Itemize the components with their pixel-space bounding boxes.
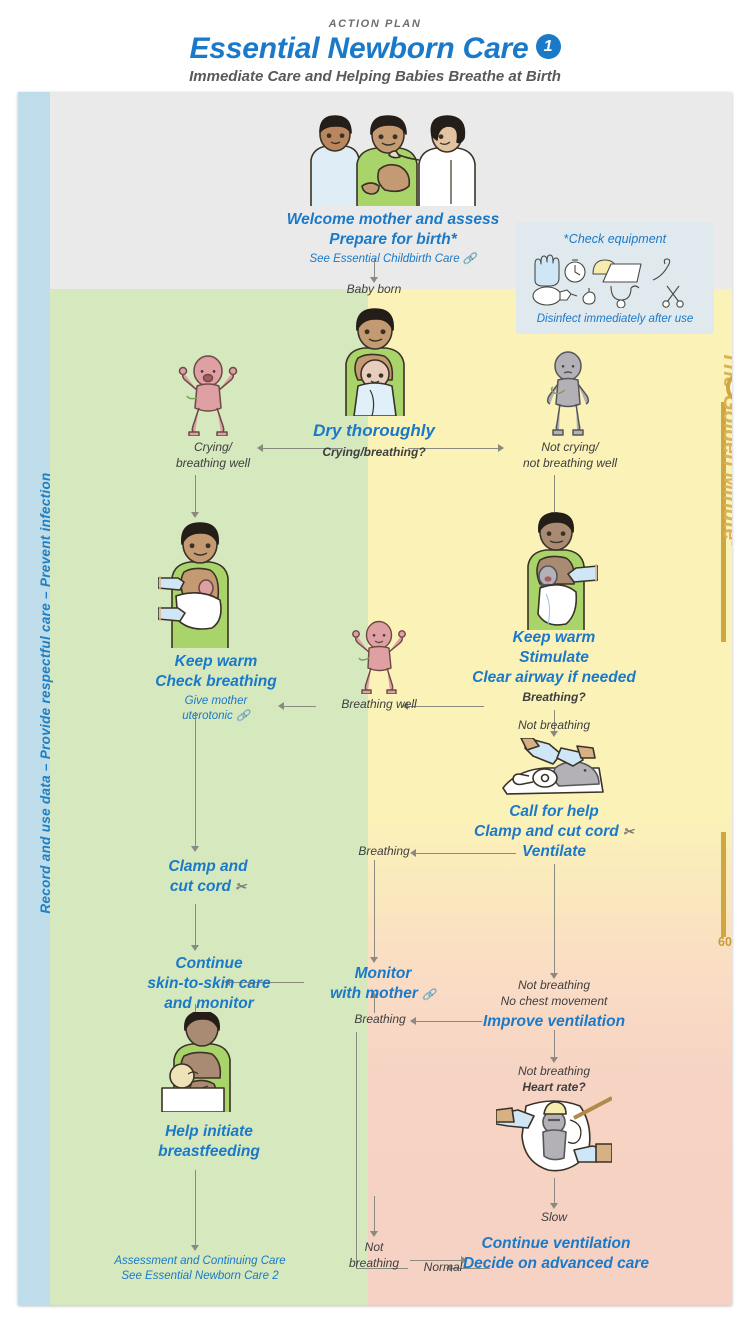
golden-minute-stem-lower (721, 832, 726, 937)
connector-crying-down (195, 475, 196, 513)
plan-number-badge: 1 (536, 34, 561, 59)
baby-born-text: Baby born (314, 282, 434, 298)
connector-normal-elbow-v (356, 1032, 357, 1268)
connector-improve-down (554, 1030, 555, 1058)
arrowhead-down (191, 846, 199, 852)
uterotonic-sub-line1: Give mother (116, 694, 316, 709)
improve-pre-line2: No chest movement (448, 994, 660, 1010)
arrowhead-down (550, 1057, 558, 1063)
improve-ventilation-title: Improve ventilation (448, 1012, 660, 1032)
arrowhead-down (191, 512, 199, 518)
disinfect-note: Disinfect immediately after use (516, 313, 714, 325)
not-breathing-label-1: Not breathing (494, 718, 614, 734)
golden-minute-label: The Golden Minute® (718, 309, 732, 589)
dry-thoroughly-node: Dry thoroughly Crying/breathing? (274, 420, 474, 460)
connector-heartrate-down (554, 1178, 555, 1204)
breathing-well-label: Breathing well (314, 697, 444, 713)
footer-ref-line2: See Essential Newborn Care 2 (80, 1269, 320, 1284)
equipment-icon-row (516, 250, 714, 313)
check-equipment-title: *Check equipment (516, 232, 714, 246)
not-breathing-bottom-line2: breathing (324, 1256, 424, 1272)
clamp-line2-text: cut cord (170, 878, 231, 895)
slow-label: Slow (514, 1210, 594, 1226)
flowchart-canvas: Record and use data – Provide respectful… (18, 92, 732, 1305)
breathing-question: Breathing? (444, 690, 664, 706)
eyebrow-label: ACTION PLAN (0, 18, 750, 30)
link-icon[interactable]: 🔗 (236, 710, 250, 722)
continue-ventilation-node: Continue ventilation Decide on advanced … (436, 1234, 676, 1274)
page-title-text: Essential Newborn Care (189, 32, 528, 65)
scissors-icon: ✂ (235, 879, 246, 894)
monitor-line2-text: with mother (330, 985, 418, 1002)
check-equipment-text: Check equipment (569, 232, 666, 246)
link-icon[interactable]: 🔗 (422, 989, 436, 1001)
call-help-line1: Call for help (444, 802, 664, 822)
keep-warm-check-line2: Check breathing (116, 672, 316, 692)
help-initiate-breastfeeding-node: Help initiate breastfeeding (114, 1122, 304, 1162)
check-equipment-box: *Check equipment (516, 222, 714, 334)
scissors-icon: ✂ (623, 824, 634, 839)
keep-warm-check-node: Keep warm Check breathing Give mother ut… (116, 652, 316, 724)
crying-pink-newborn-illustration (173, 354, 243, 436)
connector-bottom-notbreathing-down (374, 1196, 375, 1232)
continue-skin-to-skin-node: Continue skin-to-skin care and monitor (114, 954, 304, 1013)
breathing-well-text: Breathing well (314, 697, 444, 713)
heart-rate-pre: Not breathing (464, 1064, 644, 1080)
stimulating-newborn-on-mother-illustration (516, 510, 598, 630)
connector-notcrying-down (554, 475, 555, 513)
clamp-line2: cut cord ✂ (128, 877, 288, 897)
call-help-line2: Clamp and cut cord ✂ (444, 822, 664, 842)
skin-to-skin-gloved-hands-illustration (158, 520, 240, 648)
bag-mask-ventilation-illustration (499, 738, 609, 800)
registered-mark: ® (729, 540, 732, 547)
not-crying-label: Not crying/ not breathing well (500, 440, 640, 471)
crying-well-label: Crying/ breathing well (158, 440, 268, 471)
improve-ventilation-node: Not breathing No chest movement Improve … (448, 978, 660, 1032)
footer-ref-line1: Assessment and Continuing Care (80, 1254, 320, 1269)
not-breathing-bottom-label: Not breathing (324, 1240, 424, 1271)
not-crying-label-line1: Not crying/ (500, 440, 640, 456)
improve-pre-line1: Not breathing (448, 978, 660, 994)
connector-breastfeed-to-footer (195, 1170, 196, 1246)
breathing-low-label: Breathing (340, 1012, 420, 1028)
baby-born-label: Baby born (314, 282, 434, 298)
link-icon[interactable]: 🔗 (463, 253, 477, 265)
connector-breathing-to-monitor (374, 860, 375, 958)
continue-line3: and monitor (114, 994, 304, 1014)
arrowhead-down (370, 957, 378, 963)
crying-label-line1: Crying/ (158, 440, 268, 456)
keep-warm-stimulate-node: Keep warm Stimulate Clear airway if need… (444, 628, 664, 706)
keep-warm-check-line1: Keep warm (116, 652, 316, 672)
mother-partner-provider-illustration (301, 114, 485, 206)
breastfeed-line1: Help initiate (114, 1122, 304, 1142)
connector-clamp-to-continue (195, 904, 196, 946)
breathing-low-text: Breathing (340, 1012, 420, 1028)
stimulate-line2: Stimulate (444, 648, 664, 668)
sixty-second-marker: 60 sec (718, 935, 732, 949)
monitor-line2: with mother 🔗 (308, 984, 458, 1004)
stimulate-line3: Clear airway if needed (444, 668, 664, 688)
slow-text: Slow (514, 1210, 594, 1226)
connector-keepwarm-to-clamp (195, 712, 196, 847)
continue-line1: Continue (114, 954, 304, 974)
breastfeeding-illustration (158, 1012, 238, 1112)
poster-header: ACTION PLAN Essential Newborn Care1 Imme… (0, 0, 750, 92)
dry-thoroughly-question: Crying/breathing? (274, 445, 474, 461)
page-title: Essential Newborn Care1 (0, 32, 750, 66)
footer-reference-node: Assessment and Continuing Care See Essen… (80, 1254, 320, 1284)
pink-newborn-arms-up-illustration (348, 620, 410, 694)
call-help-line3: Ventilate (444, 842, 664, 862)
arrowhead-down (191, 945, 199, 951)
uterotonic-text: uterotonic (182, 710, 233, 722)
mother-holding-dried-newborn-illustration (340, 304, 410, 416)
advanced-care-assessment-illustration (496, 1092, 612, 1178)
limp-grey-newborn-illustration (533, 350, 603, 438)
continue-vent-line1: Continue ventilation (436, 1234, 676, 1254)
clamp-line1: Clamp and (128, 857, 288, 877)
page-subtitle: Immediate Care and Helping Babies Breath… (0, 68, 750, 85)
arrowhead-down (191, 1245, 199, 1251)
not-crying-label-line2: not breathing well (500, 456, 640, 472)
arrowhead-down (370, 1231, 378, 1237)
heart-rate-node: Not breathing Heart rate? (464, 1064, 644, 1095)
monitor-line1: Monitor (308, 964, 458, 984)
welcome-sub-text: See Essential Childbirth Care (309, 253, 459, 265)
call-for-help-node: Call for help Clamp and cut cord ✂ Venti… (444, 802, 664, 861)
stimulate-line1: Keep warm (444, 628, 664, 648)
not-breathing-text-1: Not breathing (494, 718, 614, 734)
arrowhead-down (550, 1203, 558, 1209)
crying-label-line2: breathing well (158, 456, 268, 472)
uterotonic-sub-line2: uterotonic 🔗 (116, 709, 316, 724)
call-help-line2-text: Clamp and cut cord (474, 823, 619, 840)
not-breathing-bottom-line1: Not (324, 1240, 424, 1256)
breathing-mid-text: Breathing (344, 844, 424, 860)
breathing-mid-label: Breathing (344, 844, 424, 860)
dry-thoroughly-title: Dry thoroughly (274, 420, 474, 442)
clamp-cut-cord-node: Clamp and cut cord ✂ (128, 857, 288, 897)
left-principles-rail: Record and use data – Provide respectful… (18, 92, 50, 1305)
continue-vent-line2: Decide on advanced care (436, 1254, 676, 1274)
left-rail-label: Record and use data – Provide respectful… (30, 173, 62, 1213)
connector-ventilate-down (554, 864, 555, 974)
monitor-with-mother-node: Monitor with mother 🔗 (308, 964, 458, 1004)
continue-line2: skin-to-skin care (114, 974, 304, 994)
breastfeed-line2: breastfeeding (114, 1142, 304, 1162)
